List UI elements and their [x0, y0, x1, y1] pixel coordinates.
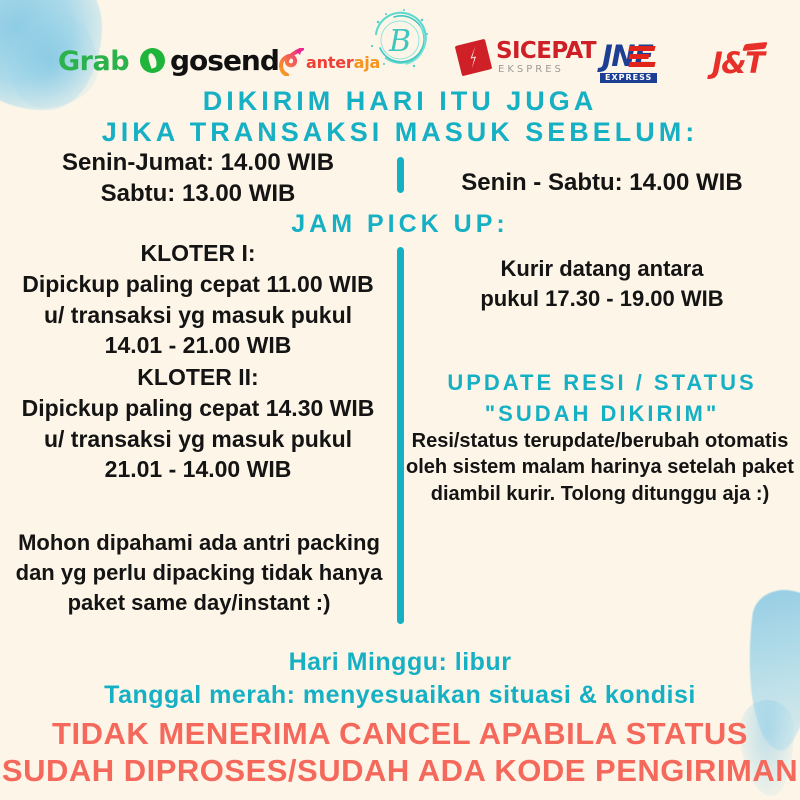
shipping-schedule-poster: B Grab gosend: [0, 0, 800, 800]
grab-logo: Grab: [58, 46, 129, 77]
gosend-logo: gosend: [140, 44, 279, 77]
sicepat-logo-subtext: EKSPRES: [498, 65, 596, 75]
warning-line-2: SUDAH DIPROSES/SUDAH ADA KODE PENGIRIMAN: [0, 753, 800, 789]
gosend-logo-text: gosend: [170, 44, 279, 77]
sicepat-logo: SICEPAT EKSPRES: [458, 40, 596, 75]
kloter-1-block: KLOTER I: Dipickup paling cepat 11.00 WI…: [0, 238, 396, 361]
footer-hari-minggu: Hari Minggu: libur: [0, 648, 800, 677]
footer-tanggal-merah: Tanggal merah: menyesuaikan situasi & ko…: [0, 681, 800, 710]
packing-note-text: Mohon dipahami ada antri packing dan yg …: [6, 528, 392, 618]
jnt-logo: J&T: [712, 46, 763, 80]
jnt-swoosh-icon: [743, 42, 768, 51]
anteraja-logo-text: anteraja: [306, 53, 380, 72]
anteraja-mark-icon: [278, 48, 304, 76]
gosend-mark-icon: [140, 48, 165, 73]
sicepat-mark-icon: [455, 39, 493, 77]
jne-logo: JNE EXPRESS: [600, 42, 657, 83]
sicepat-logo-text: SICEPAT: [496, 40, 596, 63]
jne-red-bars-icon: [629, 46, 655, 67]
heading-update-resi-status: UPDATE RESI / STATUS "SUDAH DIKIRIM": [404, 368, 800, 430]
left-cutoff-times: Senin-Jumat: 14.00 WIB Sabtu: 13.00 WIB: [0, 148, 396, 209]
right-cutoff-times: Senin - Sabtu: 14.00 WIB: [404, 168, 800, 199]
heading-update-resi-line2: "SUDAH DIKIRIM": [404, 399, 800, 430]
heading-update-resi-line1: UPDATE RESI / STATUS: [404, 368, 800, 399]
heading-jam-pick-up: JAM PICK UP:: [0, 210, 800, 239]
kurir-arrival-block: Kurir datang antara pukul 17.30 - 19.00 …: [404, 254, 800, 315]
warning-line-1: TIDAK MENERIMA CANCEL APABILA STATUS: [0, 716, 800, 752]
anteraja-logo: anteraja: [278, 48, 380, 76]
jne-logo-subtext: EXPRESS: [600, 73, 657, 83]
resi-note-text: Resi/status terupdate/berubah otomatis o…: [400, 428, 800, 507]
jnt-logo-text: J&T: [712, 46, 763, 80]
heading-dikirim-hari-itu-juga: DIKIRIM HARI ITU JUGA: [0, 86, 800, 117]
kloter-2-block: KLOTER II: Dipickup paling cepat 14.30 W…: [0, 362, 396, 485]
heading-jika-transaksi-masuk-sebelum: JIKA TRANSAKSI MASUK SEBELUM:: [0, 117, 800, 148]
grab-logo-text: Grab: [58, 46, 129, 77]
divider-top: [397, 157, 404, 193]
courier-logo-strip: Grab gosend anteraja: [0, 38, 800, 88]
